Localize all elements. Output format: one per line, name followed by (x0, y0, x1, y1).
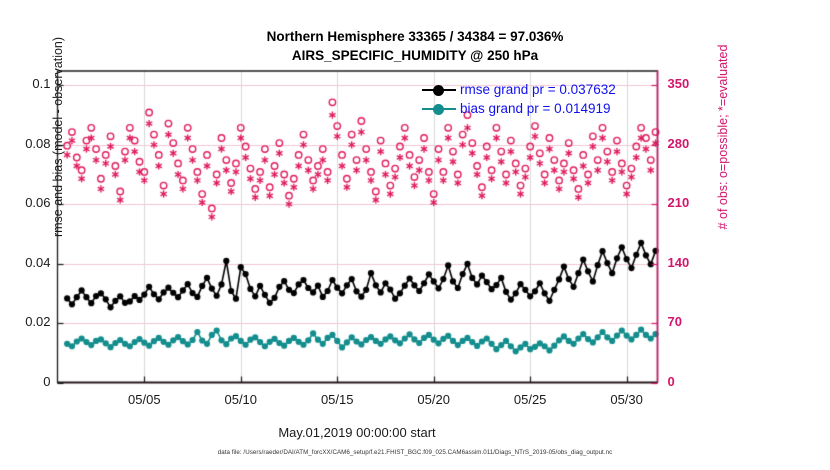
y-axis-right-tick-label: 70 (668, 314, 718, 329)
x-axis-tick-label: 05/10 (206, 392, 276, 407)
y-axis-right-tick-label: 350 (668, 76, 718, 91)
legend-marker-bias-icon (422, 102, 456, 116)
legend-item-rmse[interactable]: rmse grand pr = 0.037632 (422, 80, 654, 99)
x-axis-title: May.01,2019 00:00:00 start (57, 425, 657, 440)
figure-root: Northern Hemisphere 33365 / 34384 = 97.0… (0, 0, 830, 470)
y-axis-right-title: # of obs: o=possible; *=evaluated (716, 0, 730, 287)
x-axis-tick-label: 05/05 (109, 392, 179, 407)
data-file-footer: data file: /Users/raeder/DAI/ATM_forcXX/… (0, 449, 830, 456)
y-axis-left-tick-label: 0.04 (1, 255, 51, 270)
legend-label-rmse: rmse grand pr = 0.037632 (460, 82, 616, 97)
y-axis-left-tick-label: 0 (1, 374, 51, 389)
x-axis-tick-label: 05/30 (592, 392, 662, 407)
x-axis-tick-label: 05/15 (302, 392, 372, 407)
x-axis-tick-label: 05/25 (495, 392, 565, 407)
legend-marker-rmse-icon (422, 83, 456, 97)
y-axis-right-tick-label: 140 (668, 255, 718, 270)
y-axis-left-tick-label: 0.02 (1, 314, 51, 329)
legend-item-bias[interactable]: bias grand pr = 0.014919 (422, 99, 654, 118)
chart-legend: rmse grand pr = 0.037632 bias grand pr =… (422, 80, 654, 118)
y-axis-left-tick-label: 0.08 (1, 136, 51, 151)
legend-label-bias: bias grand pr = 0.014919 (460, 101, 611, 116)
y-axis-left-tick-label: 0.1 (1, 76, 51, 91)
y-axis-left-title: rmse and bias (model - observation) (51, 0, 65, 287)
y-axis-right-tick-label: 0 (668, 374, 718, 389)
x-axis-tick-label: 05/20 (399, 392, 469, 407)
y-axis-right-tick-label: 280 (668, 136, 718, 151)
y-axis-left-tick-label: 0.06 (1, 195, 51, 210)
y-axis-right-tick-label: 210 (668, 195, 718, 210)
